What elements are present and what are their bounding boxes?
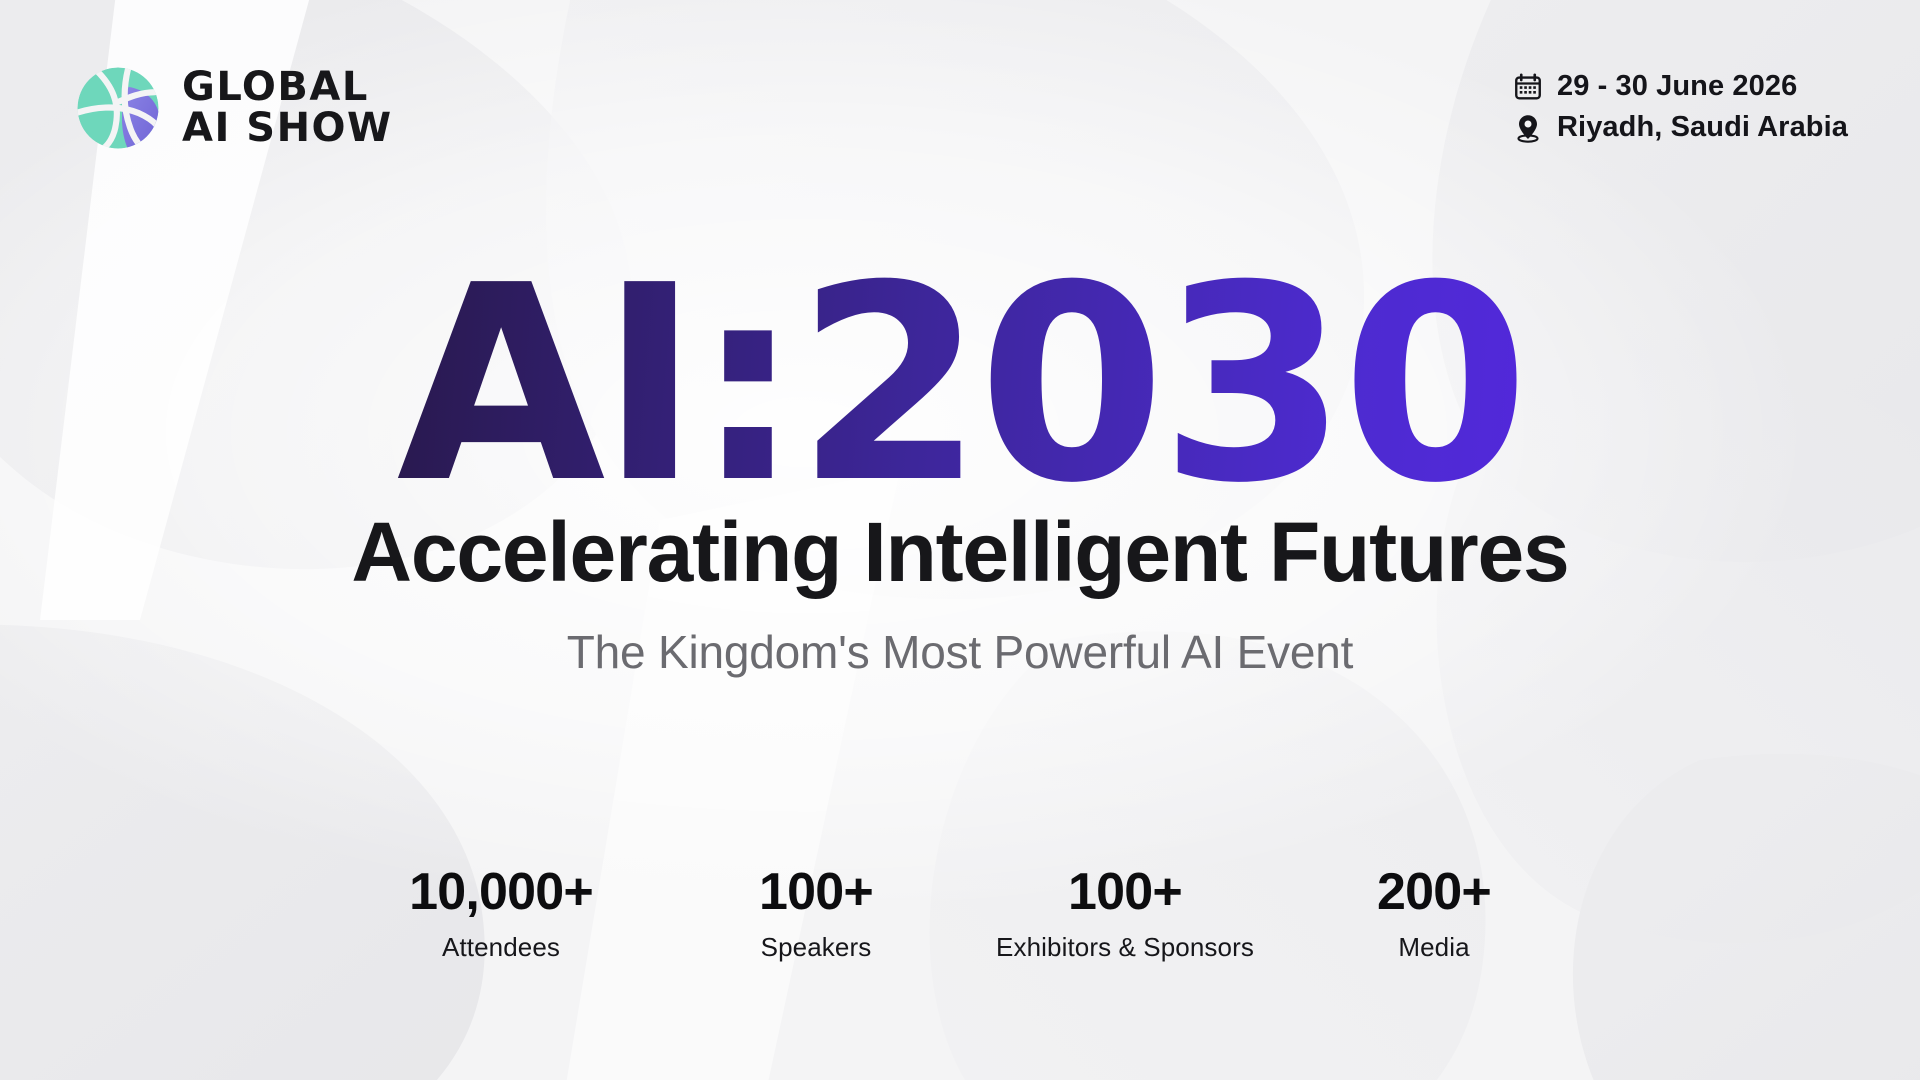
stat-label: Exhibitors & Sponsors xyxy=(982,932,1268,963)
stat-item-attendees: 10,000+ Attendees xyxy=(336,865,666,963)
event-meta: 29 - 30 June 2026 Riyadh, Saudi Arabia xyxy=(1513,64,1848,144)
hero-banner: GLOBAL AI SHOW 29 - 30 xyxy=(0,0,1920,1080)
hero-tagline: The Kingdom's Most Powerful AI Event xyxy=(0,625,1920,679)
brand-line-1: GLOBAL xyxy=(182,68,393,107)
stat-label: Attendees xyxy=(352,932,650,963)
stat-item-media: 200+ Media xyxy=(1284,865,1584,963)
event-date: 29 - 30 June 2026 xyxy=(1557,70,1797,103)
stat-item-exhibitors-sponsors: 100+ Exhibitors & Sponsors xyxy=(966,865,1284,963)
stat-item-speakers: 100+ Speakers xyxy=(666,865,966,963)
stat-label: Media xyxy=(1300,932,1568,963)
brand-wordmark: GLOBAL AI SHOW xyxy=(182,68,393,148)
stat-value: 200+ xyxy=(1300,865,1568,920)
page-title: AI:2030 xyxy=(0,255,1920,514)
stat-label: Speakers xyxy=(682,932,950,963)
stat-value: 100+ xyxy=(682,865,950,920)
location-pin-icon xyxy=(1513,113,1543,143)
stats-row: 10,000+ Attendees 100+ Speakers 100+ Exh… xyxy=(0,865,1920,963)
globe-mark-icon xyxy=(74,64,162,152)
event-location: Riyadh, Saudi Arabia xyxy=(1557,111,1848,144)
calendar-icon xyxy=(1513,72,1543,102)
hero-subtitle: Accelerating Intelligent Futures xyxy=(0,504,1920,601)
brand-line-2: AI SHOW xyxy=(182,109,393,148)
event-date-row: 29 - 30 June 2026 xyxy=(1513,70,1797,103)
hero-block: AI:2030 Accelerating Intelligent Futures… xyxy=(0,255,1920,679)
brand-lockup[interactable]: GLOBAL AI SHOW xyxy=(74,64,393,152)
banner-header: GLOBAL AI SHOW 29 - 30 xyxy=(0,0,1920,200)
stat-value: 100+ xyxy=(982,865,1268,920)
event-location-row: Riyadh, Saudi Arabia xyxy=(1513,111,1848,144)
stat-value: 10,000+ xyxy=(352,865,650,920)
